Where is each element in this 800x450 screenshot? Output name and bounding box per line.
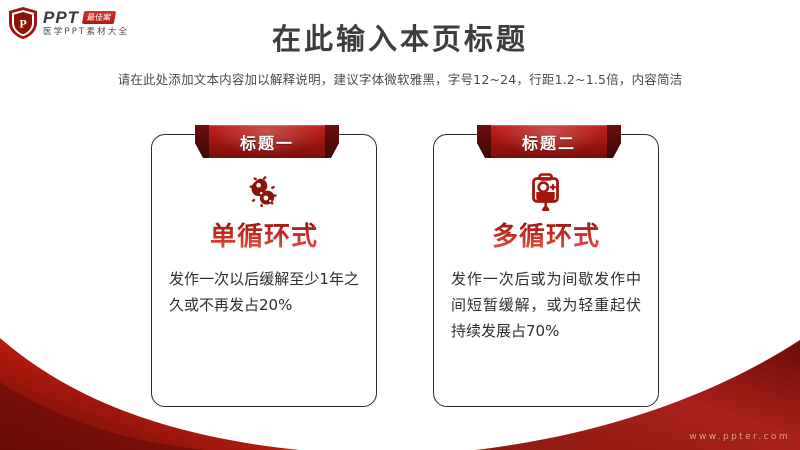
card-heading-left: 单循环式 — [151, 216, 377, 253]
page-title: 在此输入本页标题 — [0, 16, 800, 58]
ribbon-plate: 标题二 — [491, 125, 607, 158]
ribbon-label: 标题二 — [522, 130, 576, 154]
ribbon-label: 标题一 — [240, 130, 294, 154]
ribbon-plate: 标题一 — [209, 125, 325, 158]
card-ribbon-left: 标题一 — [195, 125, 339, 158]
slide-canvas: www.ppter.com P PPT 最佳案 医学PPT素材大全 在此输入本页… — [0, 0, 800, 450]
page-subtitle: 请在此处添加文本内容加以解释说明，建议字体微软雅黑，字号12~24，行距1.2~… — [0, 69, 800, 88]
blood-bag-icon — [433, 172, 659, 212]
card-body-right: 发作一次后或为间歇发作中间短暂缓解，或为轻重起伏持续发展占70% — [451, 266, 641, 344]
bacteria-icon — [151, 172, 377, 212]
card-ribbon-right: 标题二 — [477, 125, 621, 158]
site-watermark: www.ppter.com — [689, 432, 790, 442]
card-heading-right: 多循环式 — [433, 216, 659, 253]
card-body-left: 发作一次以后缓解至少1年之久或不再发占20% — [169, 266, 359, 318]
